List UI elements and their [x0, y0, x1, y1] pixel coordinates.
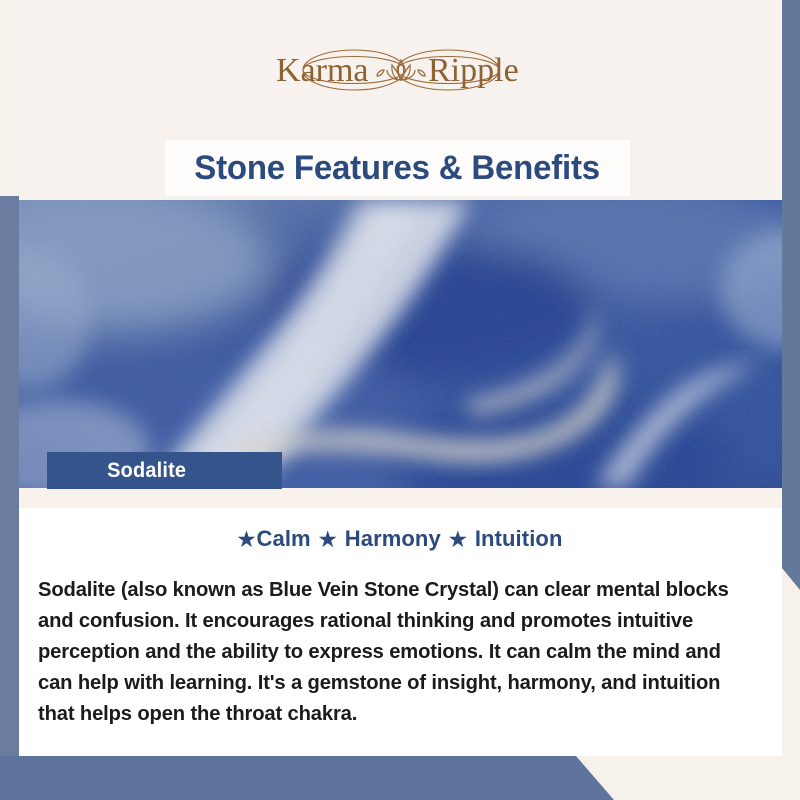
content-card: Karma Ripple Stone Features & Benefits — [19, 0, 782, 756]
stone-name-banner: Sodalite — [47, 452, 282, 489]
title-plate: Stone Features & Benefits — [165, 140, 630, 196]
star-icon-1: ★ — [237, 529, 255, 551]
logo-text-ripple: Ripple — [428, 52, 519, 89]
divider-strip — [19, 489, 782, 508]
body-panel: ★Calm★Harmony★Intuition Sodalite (also k… — [19, 508, 782, 756]
keyword-calm: Calm — [257, 526, 311, 551]
frame-accent-bottom — [0, 756, 800, 800]
keyword-intuition: Intuition — [475, 526, 563, 551]
keyword-harmony: Harmony — [345, 526, 441, 551]
sodalite-stone-photo — [19, 200, 782, 488]
stone-texture-graphic — [19, 200, 782, 488]
frame-accent-left — [0, 196, 19, 800]
star-icon-2: ★ — [319, 529, 337, 551]
header-section: Karma Ripple Stone Features & Benefits — [19, 0, 782, 200]
lotus-ripple-icon: Karma Ripple — [276, 39, 526, 101]
brand-logo: Karma Ripple — [19, 38, 782, 102]
keyword-list: ★Calm★Harmony★Intuition — [19, 526, 782, 552]
frame-accent-right — [782, 0, 800, 590]
star-icon-3: ★ — [449, 529, 467, 551]
page-title: Stone Features & Benefits — [195, 149, 601, 188]
stone-description: Sodalite (also known as Blue Vein Stone … — [38, 574, 749, 729]
logo-text-karma: Karma — [276, 52, 369, 89]
stone-name: Sodalite — [107, 459, 186, 483]
